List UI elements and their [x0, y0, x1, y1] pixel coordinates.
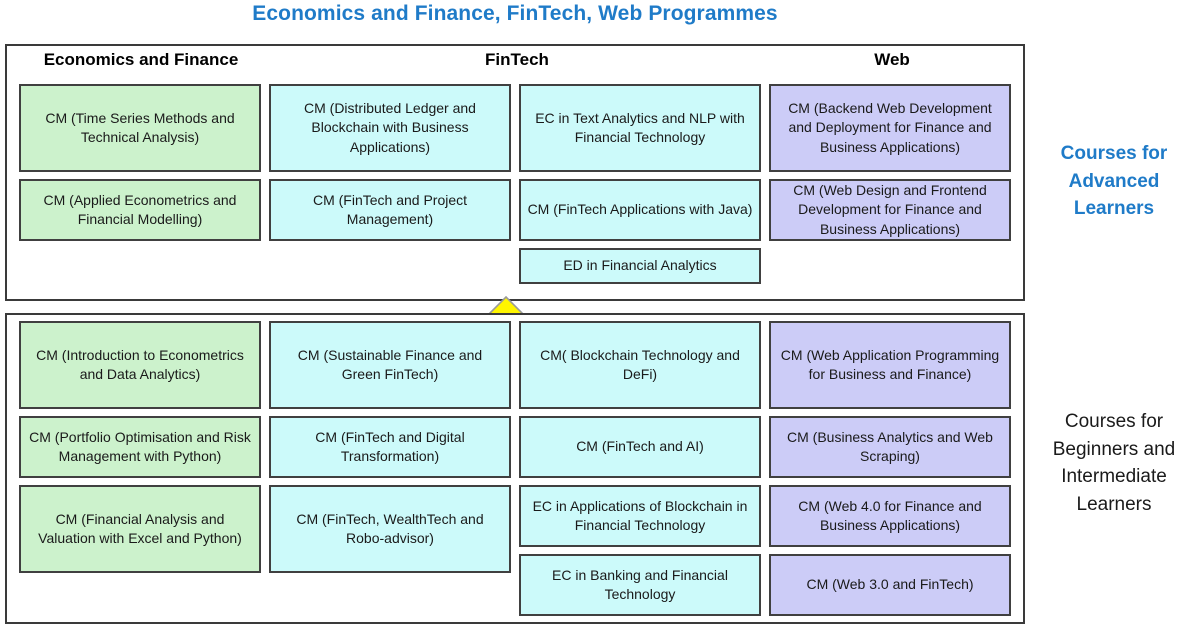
course-box[interactable]: CM (FinTech, WealthTech and Robo-advisor… [269, 485, 511, 573]
beginner-courses-panel: CM (Introduction to Econometrics and Dat… [5, 313, 1025, 624]
beginner-column-fintech-right: CM( Blockchain Technology and DeFi) CM (… [515, 321, 765, 623]
beginner-column-web: CM (Web Application Programming for Busi… [765, 321, 1015, 623]
course-box[interactable]: CM (Business Analytics and Web Scraping) [769, 416, 1011, 478]
advanced-column-economics: CM (Time Series Methods and Technical An… [15, 84, 265, 248]
course-box[interactable]: CM (Distributed Ledger and Blockchain wi… [269, 84, 511, 172]
course-box[interactable]: CM (FinTech Applications with Java) [519, 179, 761, 241]
course-box[interactable]: CM (Sustainable Finance and Green FinTec… [269, 321, 511, 409]
course-box[interactable]: EC in Banking and Financial Technology [519, 554, 761, 616]
side-label-advanced: Courses for Advanced Learners [1036, 140, 1192, 223]
course-box[interactable]: EC in Text Analytics and NLP with Financ… [519, 84, 761, 172]
course-box[interactable]: CM (Web Application Programming for Busi… [769, 321, 1011, 409]
beginner-column-fintech-left: CM (Sustainable Finance and Green FinTec… [265, 321, 515, 580]
course-box[interactable]: CM (FinTech and Project Management) [269, 179, 511, 241]
course-box[interactable]: CM (Web 4.0 for Finance and Business App… [769, 485, 1011, 547]
advanced-column-fintech-left: CM (Distributed Ledger and Blockchain wi… [265, 84, 515, 248]
course-box[interactable]: EC in Applications of Blockchain in Fina… [519, 485, 761, 547]
beginner-column-economics: CM (Introduction to Econometrics and Dat… [15, 321, 265, 580]
advanced-courses-panel: Economics and Finance FinTech Web CM (Ti… [5, 44, 1025, 301]
column-header-row: Economics and Finance FinTech Web [7, 50, 1023, 80]
course-box[interactable]: CM (Backend Web Development and Deployme… [769, 84, 1011, 172]
diagram-root: Economics and Finance, FinTech, Web Prog… [0, 0, 1200, 642]
advanced-column-fintech-right: EC in Text Analytics and NLP with Financ… [515, 84, 765, 291]
column-header-web: Web [767, 50, 1017, 70]
column-header-fintech: FinTech [267, 50, 767, 70]
column-header-economics: Economics and Finance [15, 50, 267, 70]
side-label-beginner: Courses for Beginners and Intermediate L… [1030, 408, 1198, 518]
course-box[interactable]: CM (Applied Econometrics and Financial M… [19, 179, 261, 241]
course-box[interactable]: CM (FinTech and Digital Transformation) [269, 416, 511, 478]
course-box[interactable]: CM (Introduction to Econometrics and Dat… [19, 321, 261, 409]
course-box[interactable]: CM( Blockchain Technology and DeFi) [519, 321, 761, 409]
course-box[interactable]: ED in Financial Analytics [519, 248, 761, 284]
course-box[interactable]: CM (Portfolio Optimisation and Risk Mana… [19, 416, 261, 478]
advanced-column-web: CM (Backend Web Development and Deployme… [765, 84, 1015, 248]
page-title: Economics and Finance, FinTech, Web Prog… [0, 2, 1030, 26]
course-box[interactable]: CM (Web Design and Frontend Development … [769, 179, 1011, 241]
course-box[interactable]: CM (Financial Analysis and Valuation wit… [19, 485, 261, 573]
course-box[interactable]: CM (Time Series Methods and Technical An… [19, 84, 261, 172]
course-box[interactable]: CM (Web 3.0 and FinTech) [769, 554, 1011, 616]
course-box[interactable]: CM (FinTech and AI) [519, 416, 761, 478]
